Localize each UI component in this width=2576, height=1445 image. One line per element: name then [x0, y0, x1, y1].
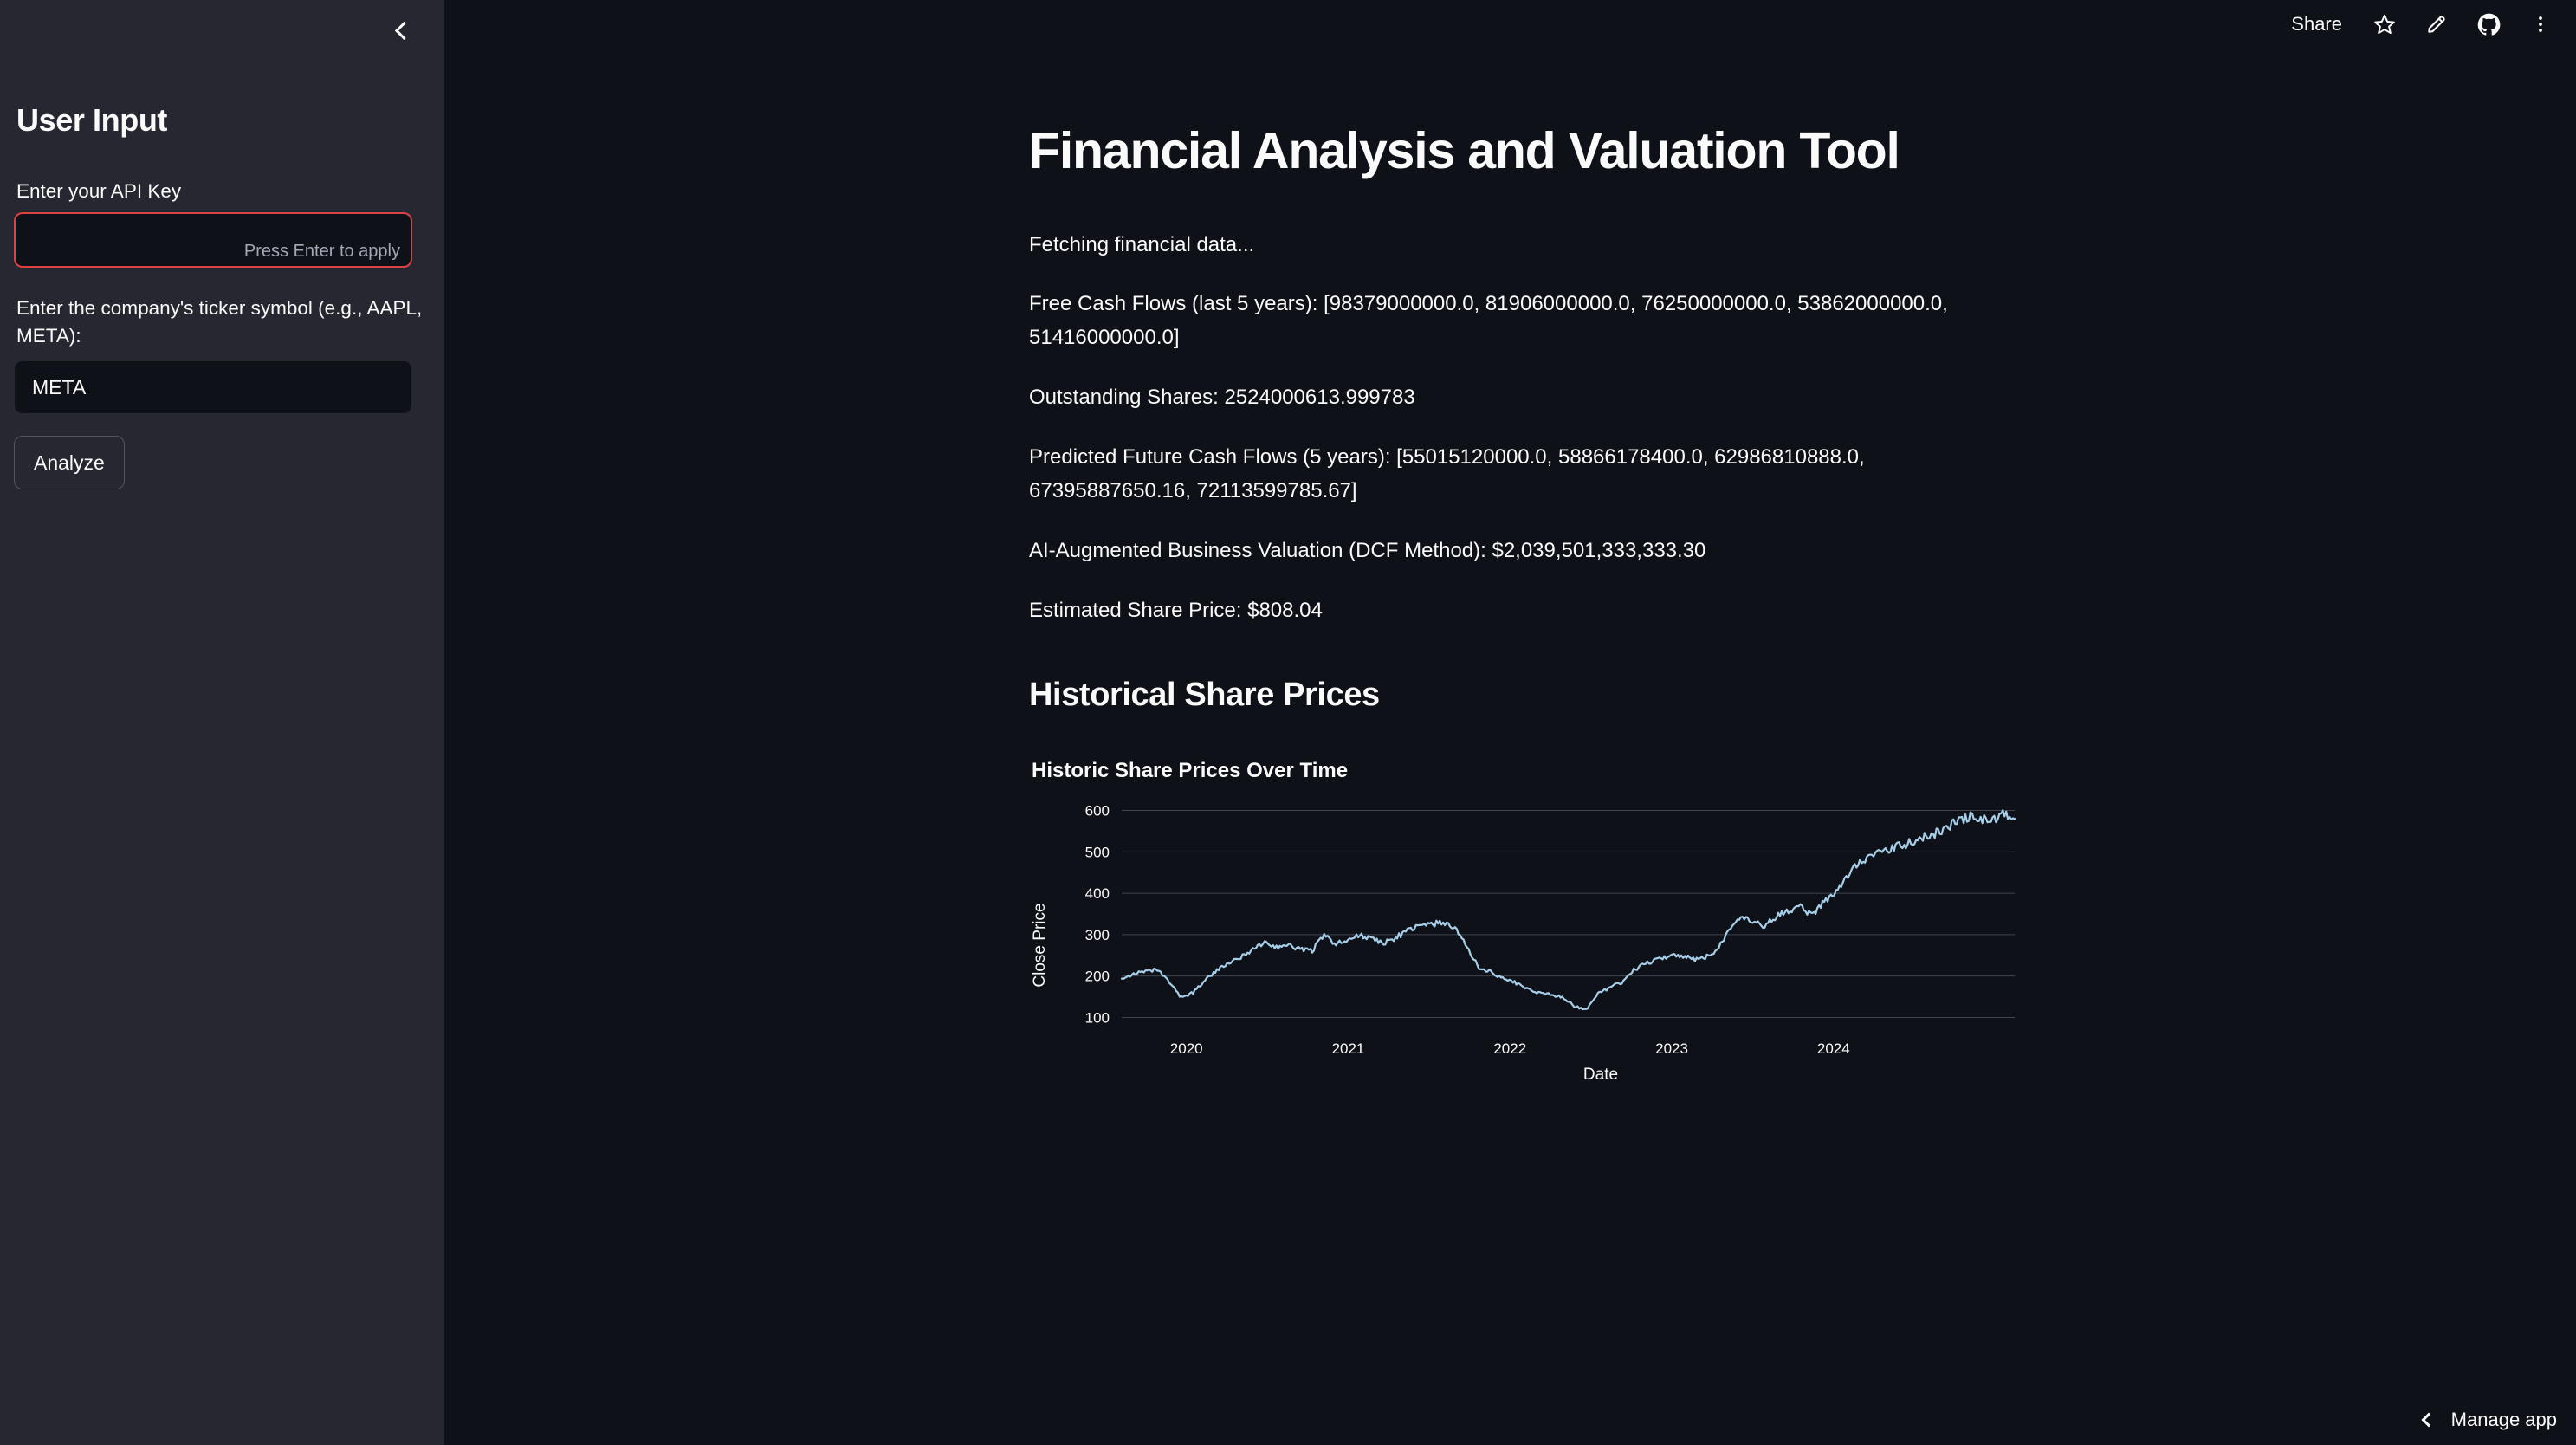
- share-price-text: Estimated Share Price: $808.04: [1029, 594, 2008, 628]
- github-icon[interactable]: [2472, 8, 2505, 41]
- svg-text:200: 200: [1085, 968, 1110, 984]
- svg-text:2022: 2022: [1493, 1040, 1526, 1057]
- sidebar-collapse-button[interactable]: [384, 10, 424, 50]
- main-content: Share: [444, 0, 2576, 1445]
- chart-gridlines: [1122, 810, 2015, 1017]
- chart-y-axis-label: Close Price: [1031, 903, 1049, 987]
- chart-line-series: [1122, 810, 2015, 1009]
- svg-text:300: 300: [1085, 926, 1110, 943]
- page-title: Financial Analysis and Valuation Tool: [1029, 121, 1947, 182]
- ticker-label: Enter the company's ticker symbol (e.g.,…: [16, 295, 424, 350]
- sidebar: User Input Enter your API Key Press Ente…: [0, 0, 444, 1445]
- ticker-input[interactable]: [32, 361, 396, 413]
- free-cash-flows-text: Free Cash Flows (last 5 years): [9837900…: [1029, 288, 2008, 355]
- chevron-left-icon: [2421, 1413, 2436, 1428]
- star-icon[interactable]: [2368, 8, 2401, 41]
- svg-text:2020: 2020: [1170, 1040, 1203, 1057]
- svg-text:500: 500: [1085, 844, 1110, 860]
- chart-x-axis-label: Date: [1583, 1066, 1618, 1084]
- manage-app-button[interactable]: Manage app: [2424, 1409, 2557, 1431]
- api-key-input[interactable]: [33, 214, 258, 266]
- svg-text:2021: 2021: [1332, 1040, 1365, 1057]
- sidebar-title: User Input: [16, 102, 167, 139]
- chart-canvas: 100200300400500600 20202021202220232024 …: [1029, 794, 2042, 1088]
- manage-app-label: Manage app: [2451, 1409, 2557, 1431]
- more-vertical-icon[interactable]: [2524, 8, 2557, 41]
- svg-text:2023: 2023: [1655, 1040, 1688, 1057]
- valuation-text: AI-Augmented Business Valuation (DCF Met…: [1029, 535, 2008, 568]
- svg-text:600: 600: [1085, 802, 1110, 819]
- share-price-chart: Historic Share Prices Over Time 10020030…: [1029, 759, 2042, 1088]
- chart-x-tick-labels: 20202021202220232024: [1170, 1040, 1850, 1057]
- content-column: Financial Analysis and Valuation Tool Fe…: [1029, 0, 2025, 1088]
- status-text: Fetching financial data...: [1029, 229, 2008, 262]
- predicted-cash-flows-text: Predicted Future Cash Flows (5 years): […: [1029, 441, 2008, 509]
- api-key-hint: Press Enter to apply: [244, 242, 400, 262]
- top-toolbar: Share: [2284, 0, 2557, 49]
- ticker-field[interactable]: [14, 360, 412, 414]
- chart-title: Historic Share Prices Over Time: [1032, 759, 1348, 783]
- app-root: User Input Enter your API Key Press Ente…: [0, 0, 2576, 1445]
- api-key-field[interactable]: Press Enter to apply: [14, 212, 412, 268]
- outstanding-shares-text: Outstanding Shares: 2524000613.999783: [1029, 381, 2008, 415]
- svg-text:2024: 2024: [1817, 1040, 1850, 1057]
- analyze-button[interactable]: Analyze: [14, 436, 125, 489]
- chart-y-tick-labels: 100200300400500600: [1085, 802, 1110, 1026]
- pencil-icon[interactable]: [2420, 8, 2453, 41]
- svg-text:400: 400: [1085, 885, 1110, 902]
- section-heading: Historical Share Prices: [1029, 677, 2025, 714]
- api-key-label: Enter your API Key: [16, 178, 424, 205]
- chevron-left-icon: [394, 21, 412, 39]
- share-button[interactable]: Share: [2284, 10, 2349, 39]
- svg-text:100: 100: [1085, 1009, 1110, 1026]
